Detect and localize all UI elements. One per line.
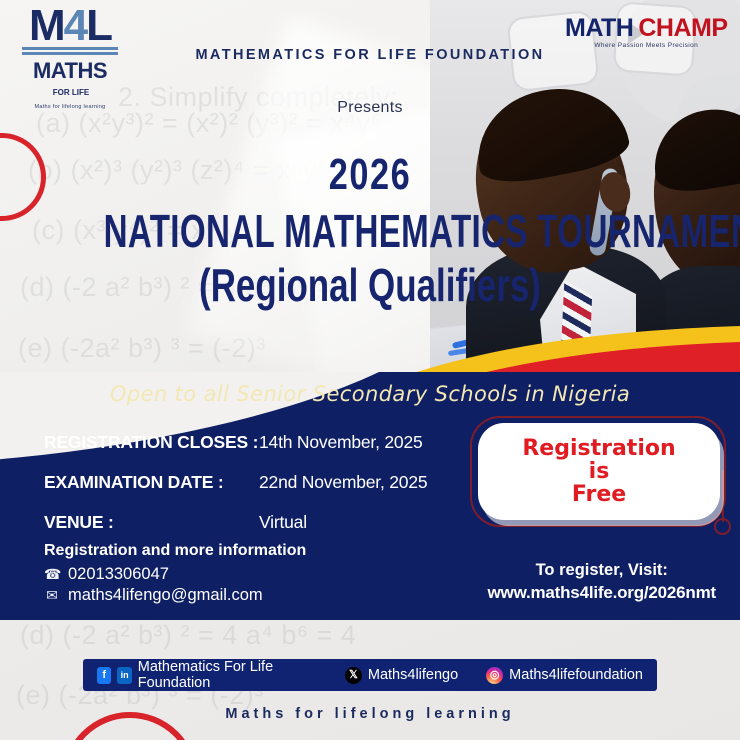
contact-email: maths4lifengo@gmail.com [68, 586, 263, 605]
poster-canvas: 2. Simplify completely: (a) (x²y³)² = (x… [0, 0, 740, 740]
detail-value: 14th November, 2025 [259, 432, 423, 453]
instagram-icon[interactable]: ◎ [486, 667, 503, 684]
visit-block[interactable]: To register, Visit: www.maths4life.org/2… [488, 561, 716, 603]
detail-value: 22nd November, 2025 [259, 472, 427, 493]
social-handle: Maths4lifengo [368, 667, 458, 683]
social-item-facebook-linkedin[interactable]: f in Mathematics For Life Foundation [97, 659, 317, 691]
event-year: 2026 [81, 150, 658, 200]
contact-phone-row[interactable]: ☎ 02013306047 [44, 565, 306, 584]
registration-free-badge: Registration is Free [478, 423, 720, 520]
phone-icon: ☎ [44, 566, 60, 583]
detail-label: EXAMINATION DATE : [44, 472, 259, 493]
visit-url[interactable]: www.maths4life.org/2026nmt [488, 583, 716, 603]
contact-email-row[interactable]: ✉ maths4lifengo@gmail.com [44, 586, 306, 605]
detail-value: Virtual [259, 512, 307, 533]
event-title: NATIONAL MATHEMATICS TOURNAMENT [104, 204, 637, 258]
detail-row: VENUE : Virtual [44, 512, 427, 533]
free-badge-dot [714, 518, 731, 535]
visit-heading: To register, Visit: [488, 561, 716, 580]
event-subtitle: (Regional Qualifiers) [89, 258, 651, 312]
contact-phone: 02013306047 [68, 565, 169, 584]
math-champ-name-dark: MATH [565, 14, 633, 42]
detail-row: EXAMINATION DATE : 22nd November, 2025 [44, 472, 427, 493]
bottom-tagline: Maths for lifelong learning [0, 706, 740, 722]
detail-label: REGISTRATION CLOSES : [44, 432, 259, 453]
social-handle: Mathematics For Life Foundation [138, 659, 317, 691]
contact-block: Registration and more information ☎ 0201… [44, 542, 306, 607]
free-badge-line-3: Free [572, 483, 626, 506]
social-media-bar: f in Mathematics For Life Foundation 𝕏 M… [83, 659, 657, 691]
social-handle: Maths4lifefoundation [509, 667, 643, 683]
m4l-for-life: FOR LIFE [53, 89, 89, 97]
m4l-logo-mark: M4L [14, 6, 126, 46]
free-badge-line-2: is [589, 460, 610, 483]
social-item-x[interactable]: 𝕏 Maths4lifengo [345, 667, 458, 684]
math-champ-name-red: CHAMP [638, 14, 727, 42]
free-badge-tail [722, 470, 724, 522]
detail-label: VENUE : [44, 512, 259, 533]
linkedin-icon[interactable]: in [117, 667, 131, 684]
contact-heading: Registration and more information [44, 542, 306, 560]
eligibility-line: Open to all Senior Secondary Schools in … [0, 382, 740, 406]
red-circle-decoration-left [0, 133, 46, 221]
x-twitter-icon[interactable]: 𝕏 [345, 667, 362, 684]
equation-line: (d) (-2 a² b³) ² = 4 a⁴ b⁶ = 4 [20, 620, 356, 651]
envelope-icon: ✉ [44, 587, 60, 604]
event-details-list: REGISTRATION CLOSES : 14th November, 202… [44, 432, 427, 552]
facebook-icon[interactable]: f [97, 667, 111, 684]
detail-row: REGISTRATION CLOSES : 14th November, 202… [44, 432, 427, 453]
organization-name: MATHEMATICS FOR LIFE FOUNDATION [0, 47, 740, 63]
presents-label: Presents [0, 99, 740, 117]
free-badge-line-1: Registration [522, 437, 675, 460]
math-champ-logo: MATHCHAMP Where Passion Meets Precision [565, 16, 728, 49]
social-item-instagram[interactable]: ◎ Maths4lifefoundation [486, 667, 643, 684]
